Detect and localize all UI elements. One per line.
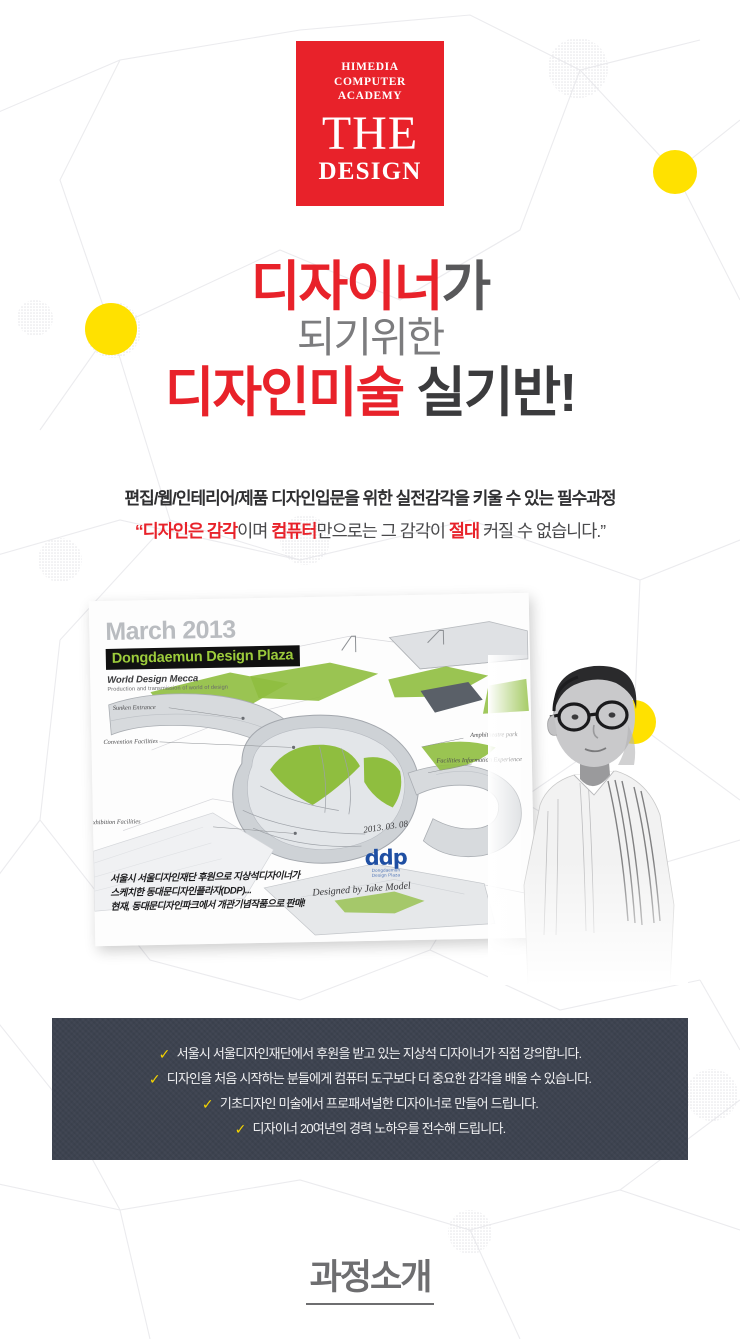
section-heading-label: 과정소개 bbox=[306, 1258, 435, 1305]
benefit-label: 디자인을 처음 시작하는 분들에게 컴퓨터 도구보다 더 중요한 감각을 배울 … bbox=[167, 1066, 591, 1091]
logo-line-academy: ACADEMY bbox=[334, 89, 406, 104]
subtitle-line-2: “디자인은 감각이며 컴퓨터만으로는 그 감각이 절대 커질 수 없습니다.” bbox=[0, 516, 740, 546]
poster-caption: 서울시 서울디자인재단 후원으로 지상석디자이너가 스케치한 동대문디자인플라자… bbox=[110, 869, 305, 915]
ddp-logo-mark: ddp bbox=[340, 847, 432, 869]
subtitle-emph-1: 디자인은 감각 bbox=[143, 521, 237, 541]
poster-annotation-1: Sunken Entrance bbox=[113, 704, 156, 712]
subtitle-line-1: 편집/웹/인테리어/제품 디자인입문을 위한 실전감각을 키울 수 있는 필수과… bbox=[0, 486, 740, 512]
subtitle-text-2: 만으로는 그 감각이 bbox=[317, 521, 449, 541]
headline-course-red: 디자인미술 bbox=[165, 363, 403, 423]
poster-title: Dongdaemun Design Plaza bbox=[106, 645, 300, 670]
check-icon: ✓ bbox=[159, 1047, 170, 1061]
section-heading-course-intro: 과정소개 bbox=[0, 1258, 740, 1305]
poster-annotation-3: Exhibition Facilities bbox=[89, 818, 141, 826]
benefit-item: ✓ 디자이너 20여년의 경력 노하우를 전수해 드립니다. bbox=[235, 1116, 506, 1141]
headline-course-dark: 실기반! bbox=[403, 363, 575, 423]
check-icon: ✓ bbox=[149, 1072, 160, 1086]
subtitle-text-3: 커질 수 없습니다.” bbox=[479, 521, 605, 541]
benefit-label: 디자이너 20여년의 경력 노하우를 전수해 드립니다. bbox=[253, 1116, 506, 1141]
ddp-logo: ddp Dongdaemun Design Plaza bbox=[340, 847, 433, 879]
headline-line-1: 디자이너가 bbox=[0, 258, 740, 316]
poster-month: March 2013 bbox=[105, 615, 236, 646]
benefit-label: 서울시 서울디자인재단에서 후원을 받고 있는 지상석 디자이너가 직접 강의합… bbox=[177, 1041, 582, 1066]
benefit-item: ✓ 디자인을 처음 시작하는 분들에게 컴퓨터 도구보다 더 중요한 감각을 배… bbox=[149, 1066, 591, 1091]
benefits-box: ✓ 서울시 서울디자인재단에서 후원을 받고 있는 지상석 디자이너가 직접 강… bbox=[52, 1018, 688, 1160]
headline-line-3: 디자인미술 실기반! bbox=[0, 364, 740, 422]
headline-particle: 가 bbox=[442, 257, 490, 317]
headline: 디자이너가 되기위한 디자인미술 실기반! bbox=[0, 258, 740, 422]
logo-design: DESIGN bbox=[318, 158, 421, 185]
headline-line-2: 되기위한 bbox=[0, 314, 740, 362]
subtitle-text-1: 이며 bbox=[237, 521, 271, 541]
logo-line-himedia: HIMEDIA bbox=[334, 60, 406, 75]
subtitle-emph-2: 컴퓨터 bbox=[271, 521, 316, 541]
subtitle-block: 편집/웹/인테리어/제품 디자인입문을 위한 실전감각을 키울 수 있는 필수과… bbox=[0, 486, 740, 546]
subtitle-emph-3: 절대 bbox=[449, 521, 479, 541]
benefit-item: ✓ 기초디자인 미술에서 프로패셔널한 디자이너로 만들어 드립니다. bbox=[202, 1091, 538, 1116]
instructor-portrait bbox=[488, 655, 688, 985]
benefit-label: 기초디자인 미술에서 프로패셔널한 디자이너로 만들어 드립니다. bbox=[220, 1091, 538, 1116]
check-icon: ✓ bbox=[235, 1122, 246, 1136]
check-icon: ✓ bbox=[202, 1097, 213, 1111]
poster-annotation-2: Convention Facilities bbox=[103, 738, 158, 746]
decorative-dot-top-right bbox=[653, 150, 697, 194]
benefit-item: ✓ 서울시 서울디자인재단에서 후원을 받고 있는 지상석 디자이너가 직접 강… bbox=[159, 1041, 582, 1066]
headline-designer-red: 디자이너 bbox=[251, 257, 442, 317]
logo-the: THE bbox=[322, 110, 418, 158]
poster-tagline: World Design Mecca bbox=[107, 673, 198, 686]
logo-line-computer: COMPUTER bbox=[334, 75, 406, 90]
ddp-poster-card: March 2013 Dongdaemun Design Plaza World… bbox=[89, 593, 536, 946]
subtitle-quote-open: “ bbox=[135, 521, 143, 541]
brand-logo: HIMEDIA COMPUTER ACADEMY THE DESIGN bbox=[296, 41, 444, 206]
